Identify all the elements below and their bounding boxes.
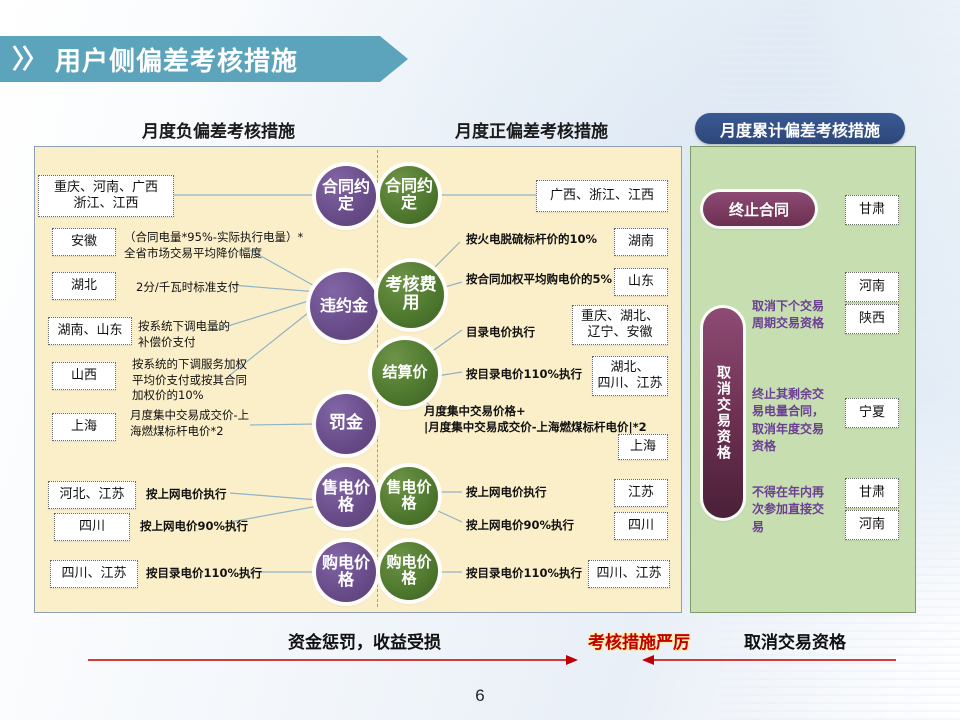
node-green-purchase-price[interactable]: 购电价格 <box>380 542 438 600</box>
region-box-neg-1[interactable]: 安徽 <box>52 228 116 256</box>
region-box-neg-2[interactable]: 湖北 <box>52 272 116 300</box>
desc-pos-7: 按上网电价90%执行 <box>466 518 626 534</box>
region-box-cum-0-1[interactable]: 陕西 <box>845 304 899 334</box>
desc-neg-8: 按目录电价110%执行 <box>146 566 321 582</box>
footer-left-text: 资金惩罚，收益受损 <box>288 628 441 653</box>
desc-neg-1: （合同电量*95%-实际执行电量）*全省市场交易平均降价幅度 <box>124 230 329 261</box>
node-label: 结算价 <box>382 365 427 381</box>
region-box-neg-4[interactable]: 山西 <box>52 362 116 390</box>
region-box-pos-7[interactable]: 四川 <box>614 512 668 540</box>
region-box-cum-1-0[interactable]: 宁夏 <box>845 398 899 428</box>
desc-pos-5: 月度集中交易价格+|月度集中交易成交价-上海燃煤标杆电价|*2 <box>424 404 674 435</box>
node-label: 罚金 <box>329 415 363 433</box>
cancel-qualification-label: 取消交易资格 <box>713 365 733 461</box>
node-green-assessment-fee[interactable]: 考核费用 <box>378 262 444 328</box>
node-label: 合同约定 <box>316 179 376 213</box>
footer-center-text: 考核措施严厉 <box>588 628 690 653</box>
node-label: 违约金 <box>320 298 368 315</box>
node-purple-purchase-price[interactable]: 购电价格 <box>316 542 376 602</box>
banner-arrow-tip <box>380 36 408 82</box>
region-box-pos-8[interactable]: 四川、江苏 <box>588 560 670 588</box>
node-green-sale-price[interactable]: 售电价格 <box>380 467 438 525</box>
heading-positive: 月度正偏差考核措施 <box>455 117 608 142</box>
node-label: 考核费用 <box>378 277 444 313</box>
desc-cum-0: 取消下个交易周期交易资格 <box>752 298 848 333</box>
desc-neg-4: 按系统的下调服务加权平均价支付或按其合同加权价的10% <box>132 357 317 404</box>
region-box-cum-2-1[interactable]: 河南 <box>845 510 899 540</box>
title-banner: 〉〉 用户侧偏差考核措施 <box>0 36 380 82</box>
desc-pos-6: 按上网电价执行 <box>466 485 616 501</box>
node-label: 购电价格 <box>380 555 438 587</box>
node-purple-sale-price[interactable]: 售电价格 <box>316 467 376 527</box>
desc-cum-1: 终止其剩余交易电量合同，取消年度交易资格 <box>752 386 848 456</box>
desc-pos-1: 按火电脱硫标杆价的10% <box>466 232 626 248</box>
heading-cumulative: 月度累计偏差考核措施 <box>695 113 905 144</box>
desc-cum-2: 不得在年内再次参加直接交易 <box>752 484 848 536</box>
chevron-right-icon: 〉〉 <box>12 46 45 72</box>
region-box-neg-7[interactable]: 四川 <box>54 513 130 541</box>
node-label: 合同约定 <box>380 178 438 212</box>
region-box-neg-8[interactable]: 四川、江苏 <box>50 560 138 588</box>
desc-pos-4: 按目录电价110%执行 <box>466 367 606 383</box>
node-label: 售电价格 <box>380 480 438 512</box>
region-box-pos-6[interactable]: 江苏 <box>614 479 668 507</box>
desc-neg-2: 2分/千瓦时标准支付 <box>136 280 316 296</box>
node-green-contract[interactable]: 合同约定 <box>380 166 438 224</box>
terminate-contract-node[interactable]: 终止合同 <box>703 192 815 226</box>
region-box-pos-1[interactable]: 湖南 <box>614 228 668 256</box>
region-box-neg-5[interactable]: 上海 <box>52 413 116 441</box>
desc-neg-3: 按系统下调电量的补偿价支付 <box>138 319 313 350</box>
terminate-contract-label: 终止合同 <box>729 199 789 220</box>
region-box-neg-0[interactable]: 重庆、河南、广西浙江、江西 <box>38 175 174 217</box>
page-title: 用户侧偏差考核措施 <box>55 41 298 78</box>
cancel-qualification-node[interactable]: 取消交易资格 <box>703 308 743 518</box>
node-purple-contract[interactable]: 合同约定 <box>316 166 376 226</box>
desc-neg-6: 按上网电价执行 <box>146 487 321 503</box>
region-box-neg-3[interactable]: 湖南、山东 <box>48 317 132 345</box>
region-box-pos-2[interactable]: 山东 <box>614 268 668 296</box>
region-box-cum-terminate[interactable]: 甘肃 <box>845 195 899 225</box>
node-label: 购电价格 <box>316 555 376 589</box>
region-box-pos-0[interactable]: 广西、浙江、江西 <box>536 180 668 212</box>
region-box-neg-6[interactable]: 河北、江苏 <box>48 481 136 509</box>
desc-neg-7: 按上网电价90%执行 <box>140 519 315 535</box>
page-number: 6 <box>0 686 960 706</box>
node-label: 售电价格 <box>316 480 376 514</box>
region-box-pos-3[interactable]: 重庆、湖北、辽宁、安徽 <box>572 305 668 345</box>
region-box-pos-4[interactable]: 湖北、四川、江苏 <box>592 356 668 396</box>
region-box-cum-0-0[interactable]: 河南 <box>845 272 899 302</box>
region-box-cum-2-0[interactable]: 甘肃 <box>845 478 899 508</box>
region-box-pos-5[interactable]: 上海 <box>618 434 668 460</box>
desc-pos-2: 按合同加权平均购电价的5% <box>466 272 631 288</box>
node-purple-penalty-fee[interactable]: 违约金 <box>310 272 378 340</box>
footer-right-text: 取消交易资格 <box>744 628 846 653</box>
node-purple-fine[interactable]: 罚金 <box>316 394 376 454</box>
desc-neg-5: 月度集中交易成交价-上海燃煤标杆电价*2 <box>130 408 320 439</box>
node-green-settlement-price[interactable]: 结算价 <box>372 340 438 406</box>
heading-negative: 月度负偏差考核措施 <box>142 117 295 142</box>
